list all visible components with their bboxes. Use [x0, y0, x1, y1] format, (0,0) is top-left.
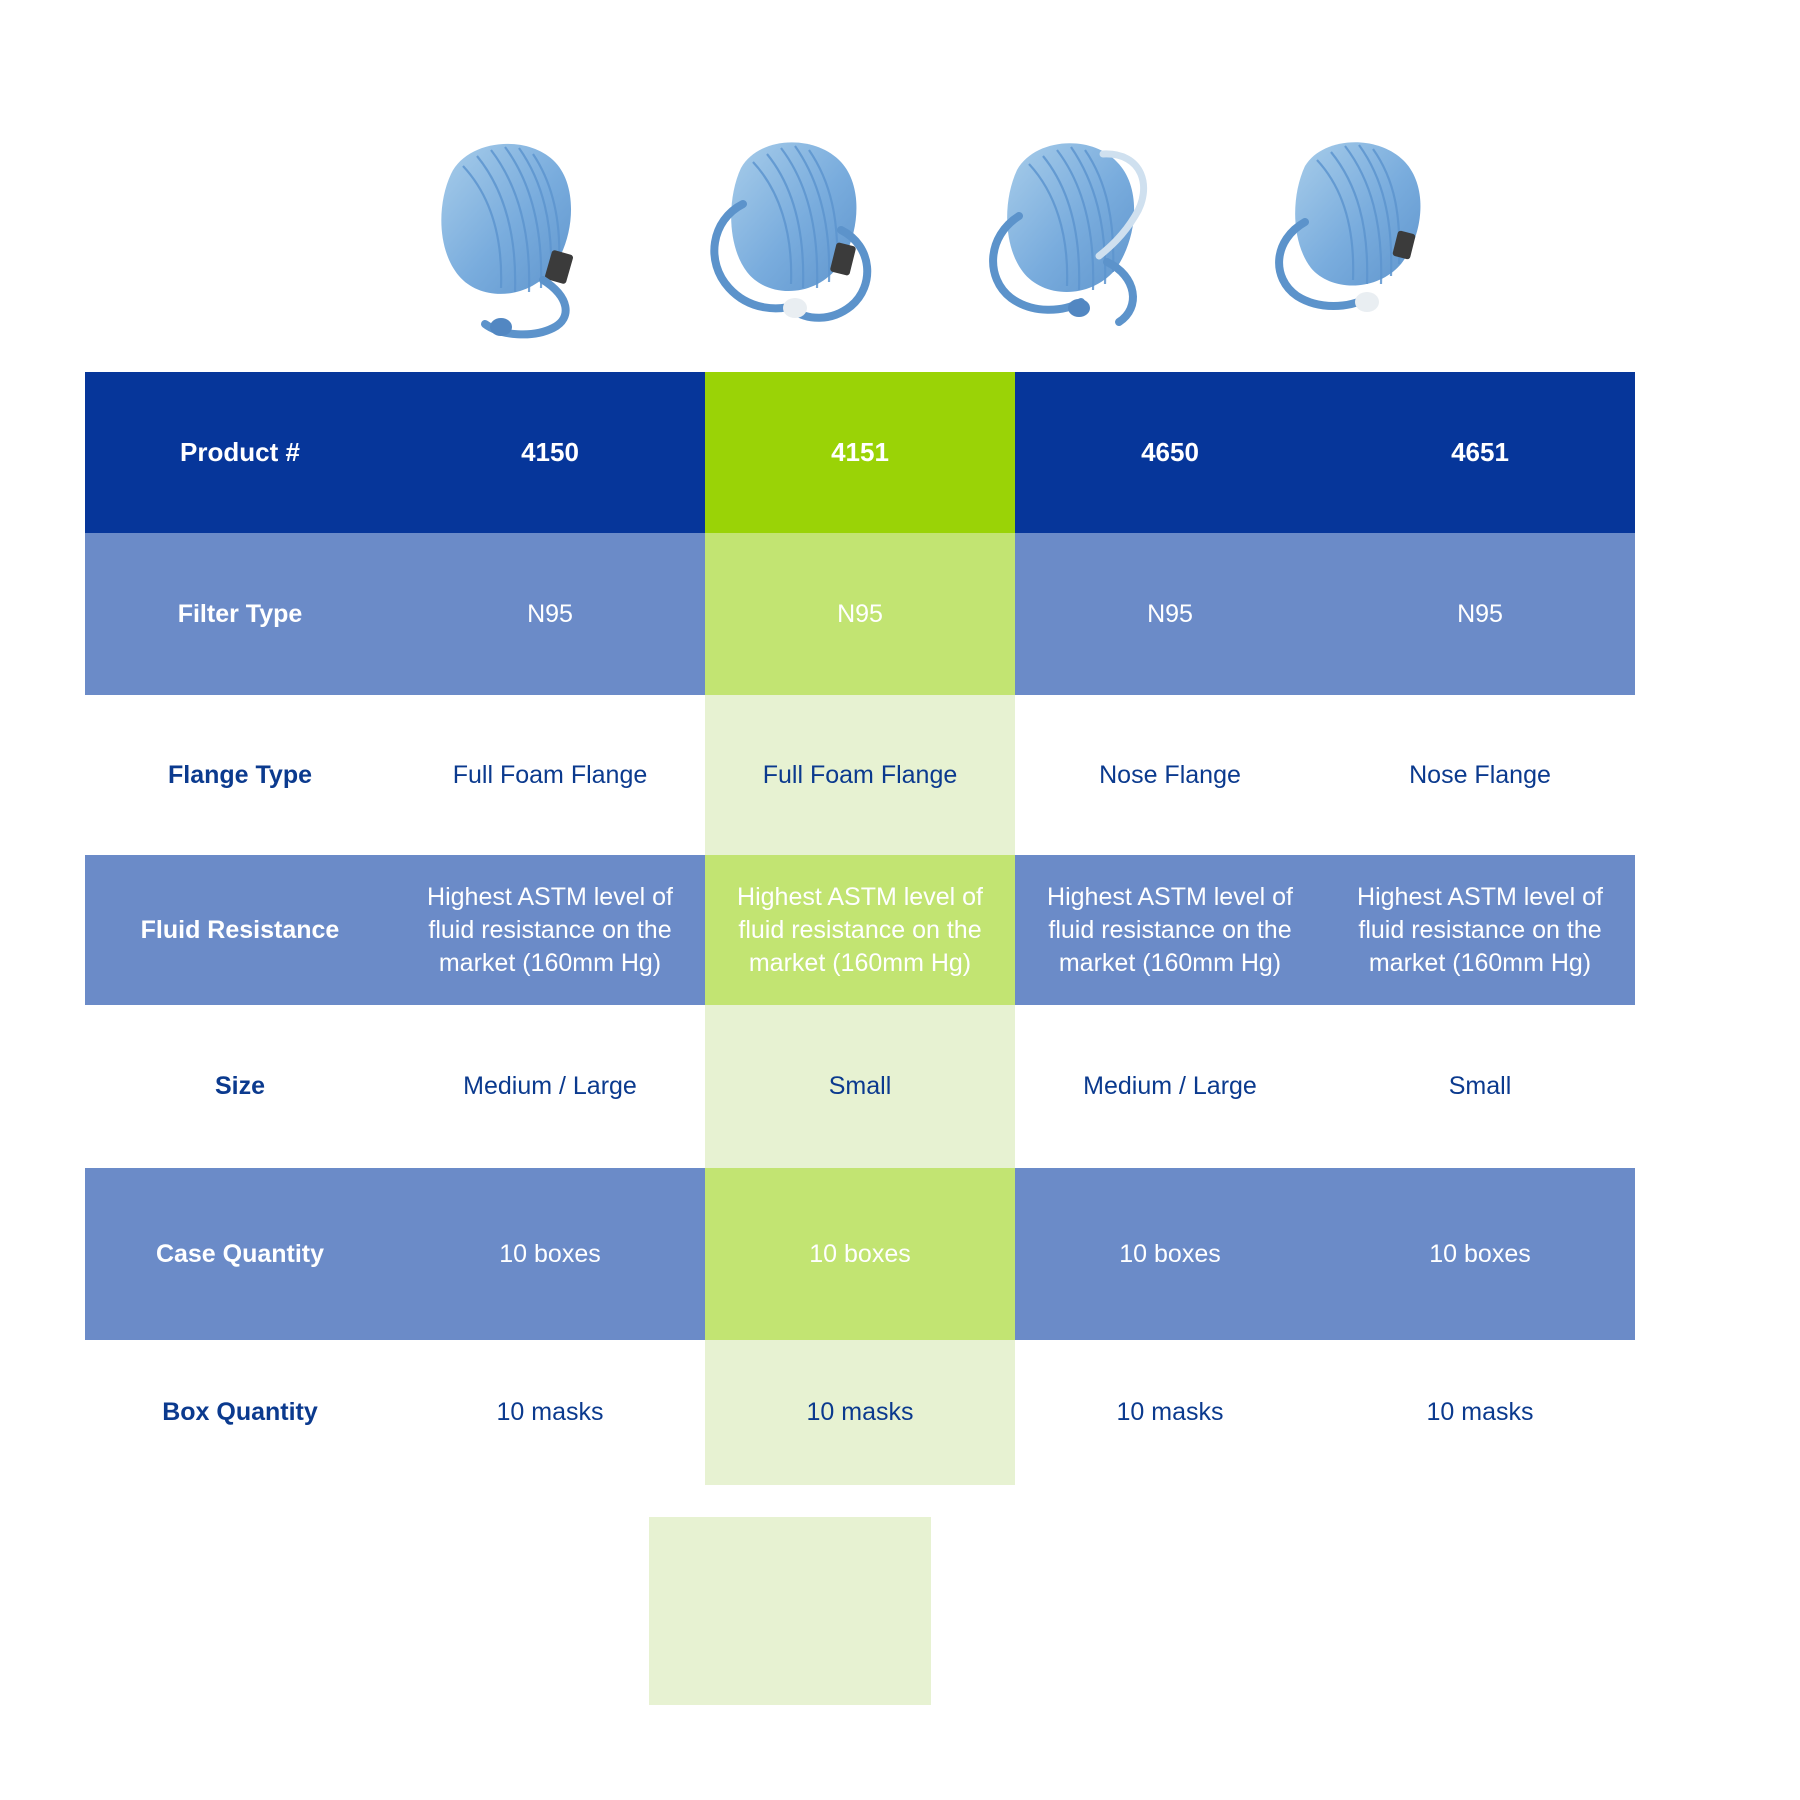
row-label-filter-type: Filter Type: [85, 533, 395, 695]
cell-size-4151: Small: [705, 1005, 1015, 1168]
n95-respirator-icon: [1239, 112, 1469, 342]
cell-size-4150: Medium / Large: [395, 1005, 705, 1168]
cell-fluid-resistance-4650: Highest ASTM level of fluid resistance o…: [1015, 855, 1325, 1005]
product-image-4151: [649, 100, 931, 350]
header-cell-4650: 4650: [1015, 372, 1325, 533]
highlight-column-tail: [649, 1517, 931, 1705]
row-label-fluid-resistance: Fluid Resistance: [85, 855, 395, 1005]
row-label-size: Size: [85, 1005, 395, 1168]
cell-box-quantity-4150: 10 masks: [395, 1340, 705, 1485]
cell-filter-type-4651: N95: [1325, 533, 1635, 695]
product-image-4651: [1213, 100, 1495, 350]
image-strip-label-spacer: [85, 100, 367, 350]
n95-respirator-icon: [393, 112, 623, 342]
cell-flange-type-4151: Full Foam Flange: [705, 695, 1015, 855]
cell-case-quantity-4650: 10 boxes: [1015, 1168, 1325, 1340]
header-cell-4150: 4150: [395, 372, 705, 533]
cell-size-4651: Small: [1325, 1005, 1635, 1168]
cell-case-quantity-4150: 10 boxes: [395, 1168, 705, 1340]
cell-box-quantity-4651: 10 masks: [1325, 1340, 1635, 1485]
table-row-fluid-resistance: Fluid Resistance Highest ASTM level of f…: [85, 855, 1635, 1005]
cell-flange-type-4651: Nose Flange: [1325, 695, 1635, 855]
row-label-flange-type: Flange Type: [85, 695, 395, 855]
n95-respirator-icon: [957, 112, 1187, 342]
row-label-box-quantity: Box Quantity: [85, 1340, 395, 1485]
header-cell-4651: 4651: [1325, 372, 1635, 533]
product-image-strip: [85, 100, 1495, 350]
cell-filter-type-4150: N95: [395, 533, 705, 695]
cell-case-quantity-4651: 10 boxes: [1325, 1168, 1635, 1340]
cell-fluid-resistance-4151: Highest ASTM level of fluid resistance o…: [705, 855, 1015, 1005]
cell-box-quantity-4151: 10 masks: [705, 1340, 1015, 1485]
header-cell-label: Product #: [85, 372, 395, 533]
product-image-4150: [367, 100, 649, 350]
cell-size-4650: Medium / Large: [1015, 1005, 1325, 1168]
product-image-4650: [931, 100, 1213, 350]
cell-fluid-resistance-4651: Highest ASTM level of fluid resistance o…: [1325, 855, 1635, 1005]
cell-filter-type-4650: N95: [1015, 533, 1325, 695]
table-header-row: Product # 4150 4151 4650 4651: [85, 372, 1635, 533]
cell-flange-type-4650: Nose Flange: [1015, 695, 1325, 855]
table-row-filter-type: Filter Type N95 N95 N95 N95: [85, 533, 1635, 695]
n95-respirator-icon: [675, 112, 905, 342]
cell-box-quantity-4650: 10 masks: [1015, 1340, 1325, 1485]
cell-filter-type-4151: N95: [705, 533, 1015, 695]
table-row-case-quantity: Case Quantity 10 boxes 10 boxes 10 boxes…: [85, 1168, 1635, 1340]
row-label-case-quantity: Case Quantity: [85, 1168, 395, 1340]
cell-case-quantity-4151: 10 boxes: [705, 1168, 1015, 1340]
table-row-flange-type: Flange Type Full Foam Flange Full Foam F…: [85, 695, 1635, 855]
product-comparison-table: Product # 4150 4151 4650 4651 Filter Typ…: [85, 372, 1635, 1485]
table-row-box-quantity: Box Quantity 10 masks 10 masks 10 masks …: [85, 1340, 1635, 1485]
table-row-size: Size Medium / Large Small Medium / Large…: [85, 1005, 1635, 1168]
header-cell-4151: 4151: [705, 372, 1015, 533]
cell-flange-type-4150: Full Foam Flange: [395, 695, 705, 855]
cell-fluid-resistance-4150: Highest ASTM level of fluid resistance o…: [395, 855, 705, 1005]
